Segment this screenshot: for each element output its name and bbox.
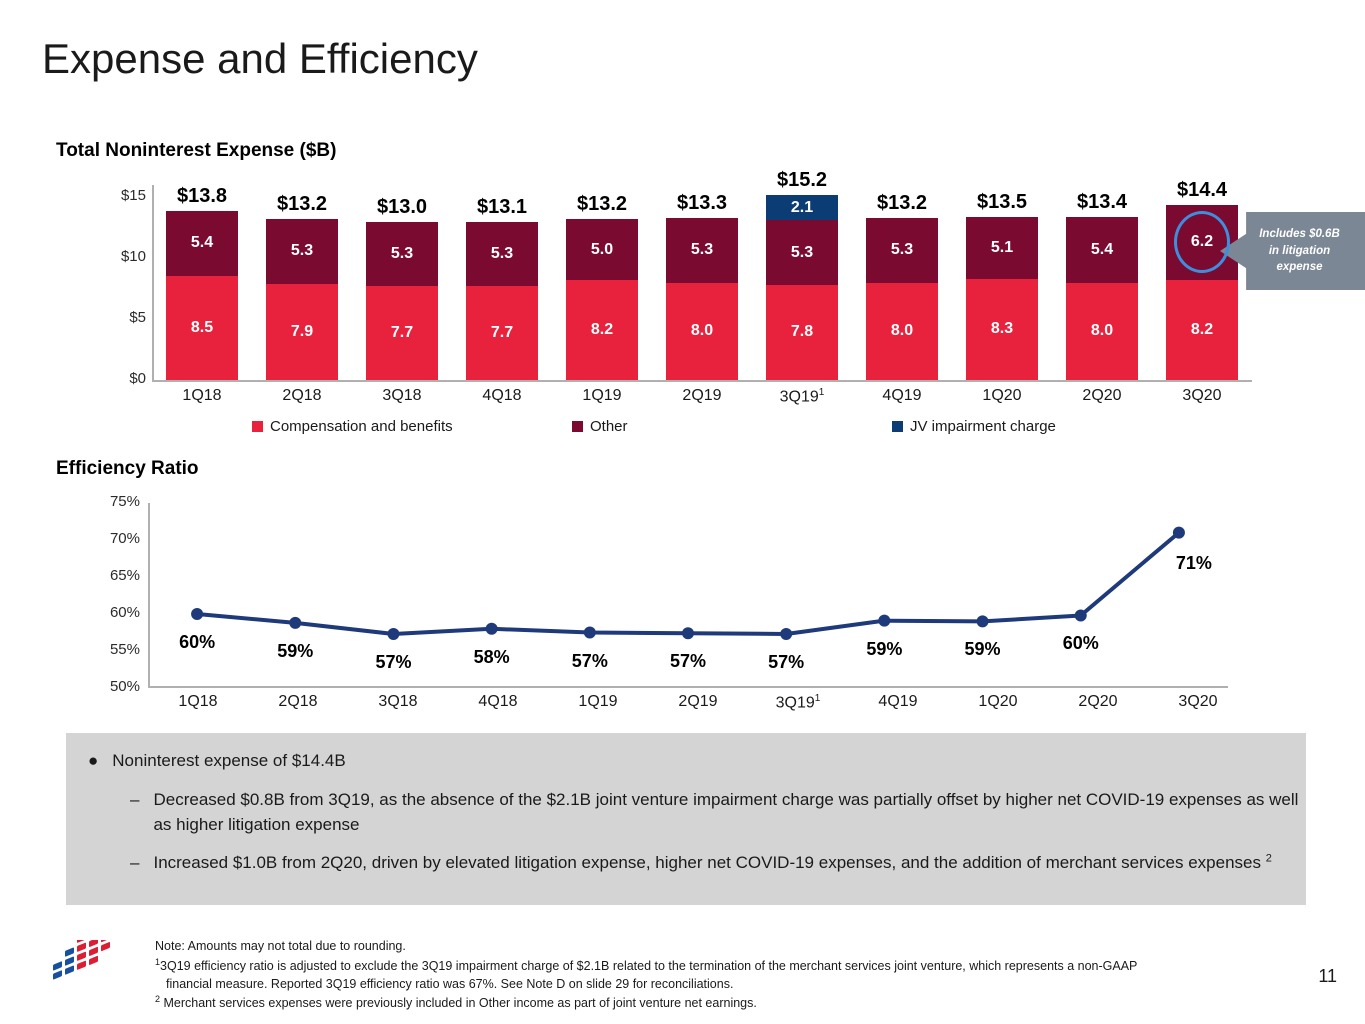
bar-segment-label: 5.3 — [291, 242, 313, 260]
x-axis-label: 4Q19 — [857, 387, 947, 405]
x-axis-label: 3Q191 — [753, 693, 843, 712]
bar-segment-label: 5.3 — [791, 244, 813, 262]
bar-total-label: $13.2 — [277, 193, 327, 216]
bar-total-label: $13.0 — [377, 196, 427, 219]
bar-total-label: $13.5 — [977, 191, 1027, 214]
legend-color-swatch — [252, 421, 263, 432]
x-axis-label: 2Q19 — [653, 693, 743, 711]
bar-segment[interactable]: 7.9 — [266, 284, 338, 380]
bar-segment-label: 7.7 — [391, 324, 413, 342]
bar-total-label: $14.4 — [1177, 179, 1227, 202]
commentary-box: ● Noninterest expense of $14.4B – Decrea… — [66, 733, 1306, 905]
bar-segment[interactable]: 5.3 — [366, 222, 438, 287]
bar-chart-x-labels: 1Q182Q183Q184Q181Q192Q193Q1914Q191Q202Q2… — [152, 387, 1252, 417]
bar-chart-x-axis-line — [152, 380, 1252, 382]
legend-item[interactable]: Compensation and benefits — [252, 418, 453, 435]
x-axis-label: 2Q19 — [657, 387, 747, 405]
footnote-1: 13Q19 efficiency ratio is adjusted to ex… — [155, 956, 1275, 976]
bar-group[interactable]: $15.22.15.37.8 — [766, 195, 838, 380]
line-point-label: 60% — [1036, 633, 1126, 654]
bar-segment-label: 7.7 — [491, 324, 513, 342]
bar-group[interactable]: $13.85.48.5 — [166, 211, 238, 380]
x-axis-label: 1Q19 — [553, 693, 643, 711]
bar-segment[interactable]: 7.7 — [366, 286, 438, 380]
bar-segment-label: 5.4 — [1091, 241, 1113, 259]
legend-item[interactable]: JV impairment charge — [892, 418, 1056, 435]
bar-segment-label: 2.1 — [791, 199, 813, 217]
bar-segment-label: 8.0 — [891, 322, 913, 340]
line-point-label: 57% — [741, 652, 831, 673]
bar-segment[interactable]: 7.8 — [766, 285, 838, 380]
bar-group[interactable]: $14.46.28.2 — [1166, 205, 1238, 381]
legend-color-swatch — [892, 421, 903, 432]
x-axis-label: 3Q18 — [353, 693, 443, 711]
bar-segment[interactable]: 8.0 — [1066, 283, 1138, 381]
legend-item[interactable]: Other — [572, 418, 628, 435]
bar-segment[interactable]: 2.1 — [766, 195, 838, 221]
bar-group[interactable]: $13.25.38.0 — [866, 218, 938, 380]
x-axis-label: 3Q20 — [1157, 387, 1247, 405]
bar-segment-label: 5.4 — [191, 234, 213, 252]
bar-segment[interactable]: 8.2 — [1166, 280, 1238, 380]
bar-segment[interactable]: 8.2 — [566, 280, 638, 380]
bar-segment-label: 8.2 — [591, 321, 613, 339]
footnote-marker-2: 2 — [1266, 852, 1272, 864]
line-chart-x-labels: 1Q182Q183Q184Q181Q192Q193Q1914Q191Q202Q2… — [148, 693, 1248, 723]
bar-segment[interactable]: 8.3 — [966, 279, 1038, 380]
dash-icon: – — [130, 851, 139, 876]
bar-segment-label: 5.3 — [691, 241, 713, 259]
x-axis-label: 1Q20 — [953, 693, 1043, 711]
bar-segment-label: 5.3 — [491, 245, 513, 263]
bullet-level2-b-text: Increased $1.0B from 2Q20, driven by ele… — [153, 851, 1271, 876]
bar-segment[interactable]: 5.1 — [966, 217, 1038, 279]
bar-segment-label: 7.8 — [791, 323, 813, 341]
bar-total-label: $13.2 — [577, 193, 627, 216]
bullet-level2-a: – Decreased $0.8B from 3Q19, as the abse… — [130, 788, 1300, 837]
bar-segment-label: 8.2 — [1191, 321, 1213, 339]
line-point-label: 57% — [545, 651, 635, 672]
bar-segment[interactable]: 5.4 — [1066, 217, 1138, 283]
bank-of-america-logo — [45, 940, 145, 996]
footnote-note: Note: Amounts may not total due to round… — [155, 938, 1275, 956]
line-point-label: 57% — [643, 651, 733, 672]
line-point-label: 58% — [447, 647, 537, 668]
legend-label: Other — [590, 418, 628, 435]
bar-group[interactable]: $13.25.08.2 — [566, 219, 638, 380]
bar-total-label: $15.2 — [777, 169, 827, 192]
bar-segment[interactable]: 5.3 — [866, 218, 938, 283]
footnote-marker-1: 1 — [815, 693, 821, 704]
legend-label: Compensation and benefits — [270, 418, 453, 435]
callout-text: Includes $0.6Bin litigationexpense — [1239, 226, 1346, 276]
bar-group[interactable]: $13.25.37.9 — [266, 219, 338, 380]
slide: Expense and Efficiency Total Noninterest… — [0, 0, 1365, 1024]
x-axis-label: 4Q19 — [853, 693, 943, 711]
bar-segment-label: 7.9 — [291, 323, 313, 341]
line-y-tick: 55% — [74, 641, 140, 658]
bar-segment-label: 5.3 — [391, 245, 413, 263]
bar-total-label: $13.1 — [477, 196, 527, 219]
page-title: Expense and Efficiency — [42, 38, 478, 80]
bar-group[interactable]: $13.05.37.7 — [366, 222, 438, 380]
bar-y-tick: $0 — [92, 370, 146, 387]
page-number: 11 — [1318, 966, 1337, 987]
legend-color-swatch — [572, 421, 583, 432]
x-axis-label: 2Q18 — [257, 387, 347, 405]
bar-total-label: $13.4 — [1077, 191, 1127, 214]
bar-segment-label: 5.0 — [591, 241, 613, 259]
line-point-label: 71% — [1149, 553, 1239, 574]
bar-segment-label: 8.5 — [191, 319, 213, 337]
line-point-label: 59% — [250, 641, 340, 662]
bar-chart-plot-area: $13.85.48.5$13.25.37.9$13.05.37.7$13.15.… — [152, 185, 1252, 380]
bar-segment-label: 5.1 — [991, 239, 1013, 257]
footnotes: Note: Amounts may not total due to round… — [155, 938, 1275, 1013]
bar-segment-label: 6.2 — [1191, 233, 1213, 251]
bar-segment[interactable]: 5.3 — [466, 222, 538, 287]
x-axis-label: 4Q18 — [453, 693, 543, 711]
bar-segment[interactable]: 6.2 — [1166, 205, 1238, 281]
bar-segment[interactable]: 8.0 — [866, 283, 938, 381]
legend-label: JV impairment charge — [910, 418, 1056, 435]
bar-segment-label: 5.3 — [891, 241, 913, 259]
bullet-level1-text: Noninterest expense of $14.4B — [112, 751, 345, 771]
x-axis-label: 1Q18 — [157, 387, 247, 405]
bullet-level2-a-text: Decreased $0.8B from 3Q19, as the absenc… — [153, 788, 1300, 837]
x-axis-label: 3Q191 — [757, 387, 847, 406]
line-point-label: 60% — [152, 632, 242, 653]
line-y-tick: 60% — [74, 604, 140, 621]
x-axis-label: 2Q20 — [1053, 693, 1143, 711]
bar-segment-label: 8.0 — [1091, 322, 1113, 340]
bullet-dot-icon: ● — [88, 751, 98, 771]
bar-y-tick: $5 — [92, 309, 146, 326]
footnote-marker-1: 1 — [819, 387, 825, 398]
bar-segment[interactable]: 5.3 — [766, 220, 838, 285]
line-chart-y-axis: 50%55%60%65%70%75% — [74, 495, 140, 685]
noninterest-expense-bar-chart: $0$5$10$15 $13.85.48.5$13.25.37.9$13.05.… — [0, 175, 1365, 425]
bar-total-label: $13.8 — [177, 185, 227, 208]
line-chart-heading: Efficiency Ratio — [56, 458, 199, 480]
bar-segment[interactable]: 5.4 — [166, 211, 238, 277]
bar-group[interactable]: $13.45.48.0 — [1066, 217, 1138, 380]
bar-segment[interactable]: 8.5 — [166, 276, 238, 380]
bullet-level2-b: – Increased $1.0B from 2Q20, driven by e… — [130, 851, 1300, 876]
bullet-level1: ● Noninterest expense of $14.4B — [88, 751, 1288, 771]
x-axis-label: 2Q20 — [1057, 387, 1147, 405]
line-y-tick: 65% — [74, 567, 140, 584]
x-axis-label: 3Q18 — [357, 387, 447, 405]
footnote-2: 2 Merchant services expenses were previo… — [155, 993, 1275, 1013]
bar-total-label: $13.3 — [677, 192, 727, 215]
bar-group[interactable]: $13.15.37.7 — [466, 222, 538, 380]
bar-y-tick: $10 — [92, 248, 146, 265]
bar-chart-heading: Total Noninterest Expense ($B) — [56, 140, 336, 162]
bar-y-tick: $15 — [92, 187, 146, 204]
bar-segment[interactable]: 5.3 — [666, 218, 738, 283]
bar-segment-label: 8.0 — [691, 322, 713, 340]
line-y-tick: 50% — [74, 678, 140, 695]
x-axis-label: 1Q18 — [153, 693, 243, 711]
bar-segment[interactable]: 8.0 — [666, 283, 738, 381]
x-axis-label: 4Q18 — [457, 387, 547, 405]
line-y-tick: 70% — [74, 530, 140, 547]
bar-segment[interactable]: 5.3 — [266, 219, 338, 284]
efficiency-ratio-line-chart: 50%55%60%65%70%75% 60%59%57%58%57%57%57%… — [0, 495, 1365, 735]
footnote-marker-2: 2 — [155, 994, 160, 1004]
x-axis-label: 1Q19 — [557, 387, 647, 405]
bar-segment[interactable]: 7.7 — [466, 286, 538, 380]
dash-icon: – — [130, 788, 139, 837]
x-axis-label: 1Q20 — [957, 387, 1047, 405]
bar-group[interactable]: $13.55.18.3 — [966, 217, 1038, 380]
bar-chart-legend: Compensation and benefitsOtherJV impairm… — [152, 418, 1252, 444]
bar-chart-y-axis: $0$5$10$15 — [90, 175, 146, 385]
x-axis-label: 2Q18 — [253, 693, 343, 711]
bar-total-label: $13.2 — [877, 192, 927, 215]
bar-segment[interactable]: 5.0 — [566, 219, 638, 280]
footnote-1-cont: financial measure. Reported 3Q19 efficie… — [155, 976, 1275, 994]
line-point-label: 57% — [348, 652, 438, 673]
line-chart-point-labels: 60%59%57%58%57%57%57%59%59%60%71% — [148, 495, 1228, 690]
x-axis-label: 3Q20 — [1153, 693, 1243, 711]
bar-segment-label: 8.3 — [991, 320, 1013, 338]
bar-group[interactable]: $13.35.38.0 — [666, 218, 738, 380]
line-y-tick: 75% — [74, 493, 140, 510]
line-point-label: 59% — [938, 639, 1028, 660]
line-point-label: 59% — [839, 639, 929, 660]
